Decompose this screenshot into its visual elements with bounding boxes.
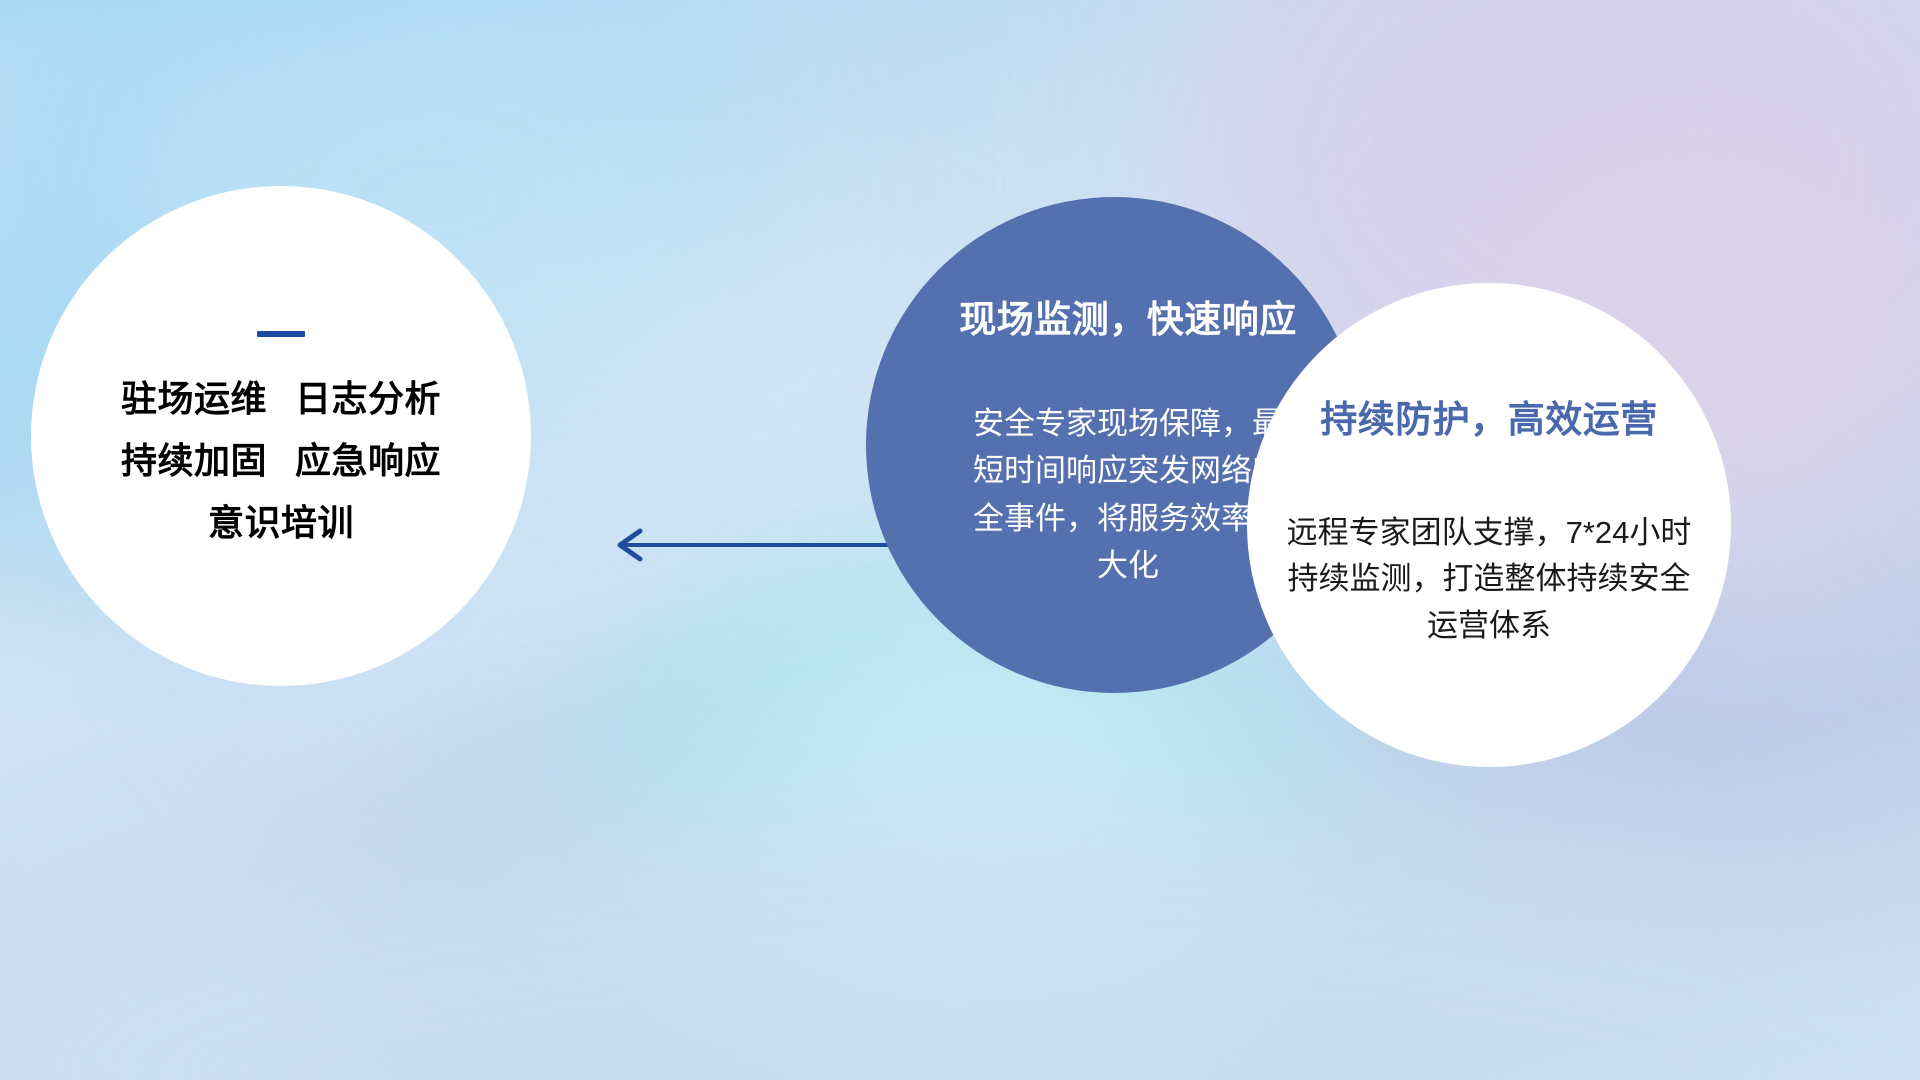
list-item: 驻场运维日志分析 [121, 381, 441, 417]
onsite-title: 现场监测，快速响应 [928, 301, 1328, 338]
service-label: 应急响应 [295, 440, 441, 481]
list-item: 意识培训 [208, 505, 354, 541]
remote-description: 远程专家团队支撑，7*24小时持续监测，打造整体持续安全运营体系 [1283, 510, 1695, 650]
flow-arrow-left-icon [600, 520, 890, 570]
service-label: 日志分析 [295, 378, 441, 419]
service-label: 持续加固 [121, 440, 267, 481]
services-list: 驻场运维日志分析 持续加固应急响应 意识培训 [121, 381, 441, 541]
onsite-description: 安全专家现场保障，最短时间响应突发网络安全事件，将服务效率最大化 [973, 400, 1283, 588]
service-label: 意识培训 [208, 502, 354, 543]
slide-canvas: 现场监测，快速响应 安全专家现场保障，最短时间响应突发网络安全事件，将服务效率最… [0, 0, 1920, 1080]
service-label: 驻场运维 [121, 378, 267, 419]
remote-content: 持续防护，高效运营 远程专家团队支撑，7*24小时持续监测，打造整体持续安全运营… [1274, 401, 1704, 650]
capability-circle-remote[interactable]: 持续防护，高效运营 远程专家团队支撑，7*24小时持续监测，打造整体持续安全运营… [1247, 283, 1731, 767]
divider-dash-icon [257, 331, 305, 337]
list-item: 持续加固应急响应 [121, 443, 441, 479]
capability-circle-services[interactable]: 驻场运维日志分析 持续加固应急响应 意识培训 [31, 186, 531, 686]
remote-title: 持续防护，高效运营 [1274, 401, 1704, 438]
